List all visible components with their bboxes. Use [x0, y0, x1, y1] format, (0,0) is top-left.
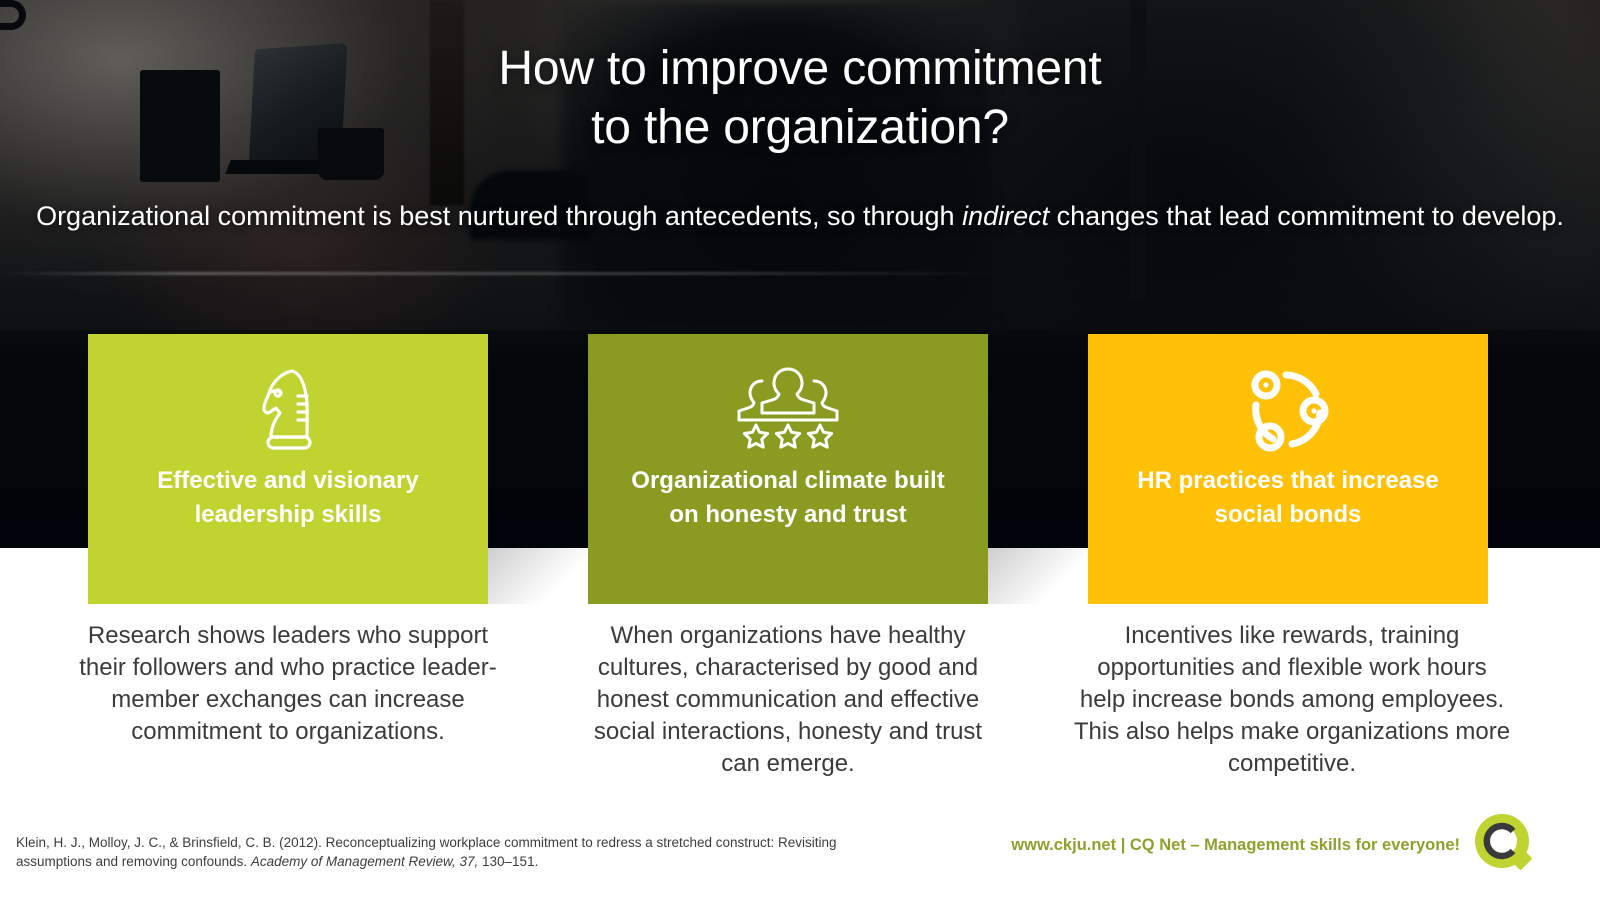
network-nodes-icon: [1088, 358, 1488, 464]
three-people-stars-icon: [588, 358, 988, 464]
citation-reference: Klein, H. J., Molloy, J. C., & Brinsfiel…: [16, 833, 896, 871]
title-line-2: to the organization?: [0, 99, 1600, 158]
page-title: How to improve commitment to the organiz…: [0, 40, 1600, 157]
page-subtitle: Organizational commitment is best nurtur…: [0, 198, 1600, 234]
subtitle-text-before: Organizational commitment is best nurtur…: [36, 201, 962, 231]
card-hr-practices-social-bonds[interactable]: HR practices that increase social bonds: [1088, 334, 1488, 604]
card-title: Organizational climate built on honesty …: [588, 464, 988, 532]
chess-knight-icon: [88, 358, 488, 464]
card-effective-visionary-leadership[interactable]: Effective and visionary leadership skill…: [88, 334, 488, 604]
card-organizational-climate[interactable]: Organizational climate built on honesty …: [588, 334, 988, 604]
footer-website-link[interactable]: www.ckju.net | CQ Net – Management skill…: [940, 836, 1460, 855]
card-shadow-wedge: [488, 548, 588, 604]
card-body-hr-practices-social-bonds: Incentives like rewards, training opport…: [1072, 620, 1512, 780]
desk-edge-highlight: [0, 272, 1010, 275]
coffee-mug-handle: [0, 0, 26, 30]
card-title: Effective and visionary leadership skill…: [88, 464, 488, 532]
cq-net-logo[interactable]: [1468, 808, 1542, 882]
card-shadow-wedge: [988, 548, 1088, 604]
subtitle-text-after: changes that lead commitment to develop.: [1049, 201, 1564, 231]
card-body-effective-visionary-leadership: Research shows leaders who support their…: [78, 620, 498, 748]
card-body-organizational-climate: When organizations have healthy cultures…: [578, 620, 998, 780]
citation-journal: Academy of Management Review, 37,: [251, 854, 478, 869]
subtitle-emphasis: indirect: [962, 201, 1049, 231]
card-title: HR practices that increase social bonds: [1088, 464, 1488, 532]
citation-pages: 130–151.: [478, 854, 538, 869]
title-line-1: How to improve commitment: [0, 40, 1600, 99]
